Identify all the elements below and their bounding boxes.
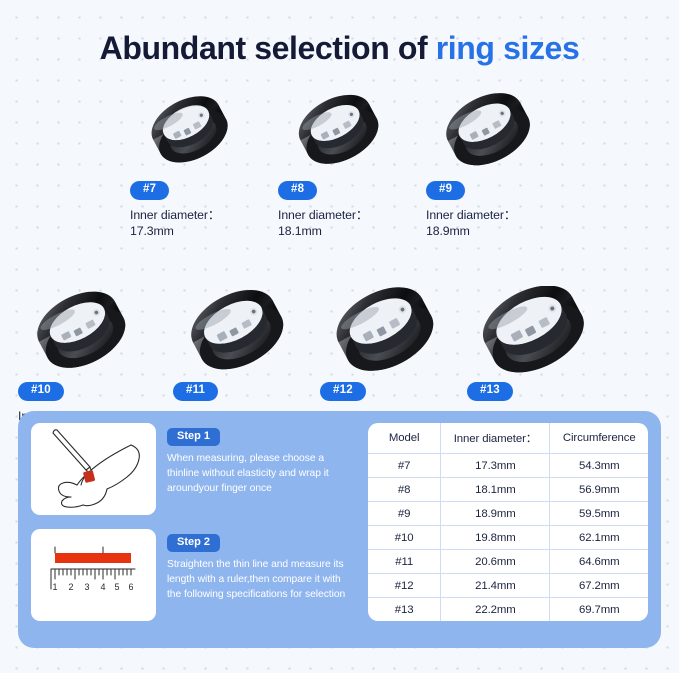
table-header-circumference: Circumference xyxy=(550,423,648,454)
ring-size-grid: #7 Inner diameter： 17.3mm xyxy=(0,88,679,440)
smart-ring-icon xyxy=(290,90,390,174)
ring-label-text-8: Inner diameter： xyxy=(278,208,368,222)
step-2-description: Straighten the thin line and measure its… xyxy=(167,558,349,603)
step-1-badge: Step 1 xyxy=(167,428,220,446)
page-title-main: Abundant selection of xyxy=(100,30,436,66)
step-1-block: Step 1 When measuring, please choose a t… xyxy=(31,423,349,515)
cell-circumference: 56.9mm xyxy=(550,478,648,502)
page-title: Abundant selection of ring sizes xyxy=(0,30,679,67)
smart-ring-icon xyxy=(332,287,442,379)
cell-circumference: 64.6mm xyxy=(550,550,648,574)
cell-circumference: 69.7mm xyxy=(550,598,648,622)
measurement-guide-panel: Step 1 When measuring, please choose a t… xyxy=(18,411,661,648)
smart-ring-icon xyxy=(479,286,592,380)
cell-model: #8 xyxy=(368,478,441,502)
ring-badge-11: #11 xyxy=(173,382,218,401)
ring-image-7 xyxy=(130,88,278,176)
ring-badge-13: #13 xyxy=(467,382,513,401)
cell-model: #12 xyxy=(368,574,441,598)
table-body: #7 17.3mm 54.3mm #8 18.1mm 56.9mm #9 18.… xyxy=(368,454,648,622)
ring-label-7: Inner diameter： 17.3mm xyxy=(130,207,278,240)
table-row: #10 19.8mm 62.1mm xyxy=(368,526,648,550)
ring-badge-9: #9 xyxy=(426,181,465,200)
ring-badge-7: #7 xyxy=(130,181,169,200)
cell-model: #9 xyxy=(368,502,441,526)
ring-badge-12: #12 xyxy=(320,382,366,401)
ring-value-7: 17.3mm xyxy=(130,223,278,239)
table-row: #11 20.6mm 64.6mm xyxy=(368,550,648,574)
size-table: Model Inner diameter： Circumference #7 1… xyxy=(368,423,648,621)
step-2-badge: Step 2 xyxy=(167,534,220,552)
ring-value-8: 18.1mm xyxy=(278,223,426,239)
ring-image-11 xyxy=(173,289,320,377)
ring-label-9: Inner diameter： 18.9mm xyxy=(426,207,574,240)
svg-text:2: 2 xyxy=(68,582,73,592)
cell-diameter: 22.2mm xyxy=(441,598,550,622)
ring-label-text-9: Inner diameter： xyxy=(426,208,516,222)
ring-value-9: 18.9mm xyxy=(426,223,574,239)
svg-text:1: 1 xyxy=(52,582,57,592)
cell-diameter: 19.8mm xyxy=(441,526,550,550)
ruler-with-thread-illustration: 1 2 3 4 5 6 xyxy=(31,529,156,621)
smart-ring-icon xyxy=(142,91,240,173)
cell-circumference: 59.5mm xyxy=(550,502,648,526)
step-1-text: Step 1 When measuring, please choose a t… xyxy=(167,423,349,497)
smart-ring-icon xyxy=(438,89,541,175)
smart-ring-icon xyxy=(185,288,293,378)
ring-label-8: Inner diameter： 18.1mm xyxy=(278,207,426,240)
steps-container: Step 1 When measuring, please choose a t… xyxy=(31,423,349,621)
ring-card-9[interactable]: #9 Inner diameter： 18.9mm xyxy=(426,88,574,239)
table-row: #9 18.9mm 59.5mm xyxy=(368,502,648,526)
ring-label-text-7: Inner diameter： xyxy=(130,208,220,222)
cell-circumference: 54.3mm xyxy=(550,454,648,478)
svg-text:4: 4 xyxy=(100,582,105,592)
cell-diameter: 18.1mm xyxy=(441,478,550,502)
step-1-description: When measuring, please choose a thinline… xyxy=(167,452,349,497)
table-row: #13 22.2mm 69.7mm xyxy=(368,598,648,622)
ring-image-12 xyxy=(320,289,467,377)
ruler-tick-labels: 1 2 3 4 5 6 xyxy=(52,582,133,592)
size-table-container: Model Inner diameter： Circumference #7 1… xyxy=(368,423,648,621)
hand-with-thread-illustration xyxy=(31,423,156,515)
ring-card-7[interactable]: #7 Inner diameter： 17.3mm xyxy=(130,88,278,239)
table-header-inner-diameter: Inner diameter： xyxy=(441,423,550,454)
cell-model: #11 xyxy=(368,550,441,574)
step-2-text: Step 2 Straighten the thin line and meas… xyxy=(167,529,349,603)
ring-image-9 xyxy=(426,88,574,176)
ruler-with-thread-icon: 1 2 3 4 5 6 xyxy=(31,529,156,621)
ring-image-13 xyxy=(467,289,615,377)
svg-text:3: 3 xyxy=(84,582,89,592)
page-title-accent: ring sizes xyxy=(436,30,580,66)
cell-circumference: 67.2mm xyxy=(550,574,648,598)
table-row: #8 18.1mm 56.9mm xyxy=(368,478,648,502)
cell-model: #7 xyxy=(368,454,441,478)
ring-badge-8: #8 xyxy=(278,181,317,200)
cell-diameter: 17.3mm xyxy=(441,454,550,478)
svg-text:5: 5 xyxy=(114,582,119,592)
ring-row-1: #7 Inner diameter： 17.3mm xyxy=(0,88,679,239)
ring-image-10 xyxy=(18,289,173,377)
cell-diameter: 21.4mm xyxy=(441,574,550,598)
hand-with-thread-icon xyxy=(31,423,156,515)
table-header-row: Model Inner diameter： Circumference xyxy=(368,423,648,454)
svg-text:6: 6 xyxy=(128,582,133,592)
table-header-model: Model xyxy=(368,423,441,454)
table-row: #12 21.4mm 67.2mm xyxy=(368,574,648,598)
step-2-block: 1 2 3 4 5 6 Step 2 Straighten the thin l… xyxy=(31,529,349,621)
ring-image-8 xyxy=(278,88,426,176)
table-row: #7 17.3mm 54.3mm xyxy=(368,454,648,478)
cell-model: #13 xyxy=(368,598,441,622)
ring-card-8[interactable]: #8 Inner diameter： 18.1mm xyxy=(278,88,426,239)
ring-badge-10: #10 xyxy=(18,382,64,401)
cell-model: #10 xyxy=(368,526,441,550)
smart-ring-icon xyxy=(30,289,136,377)
cell-circumference: 62.1mm xyxy=(550,526,648,550)
cell-diameter: 18.9mm xyxy=(441,502,550,526)
cell-diameter: 20.6mm xyxy=(441,550,550,574)
